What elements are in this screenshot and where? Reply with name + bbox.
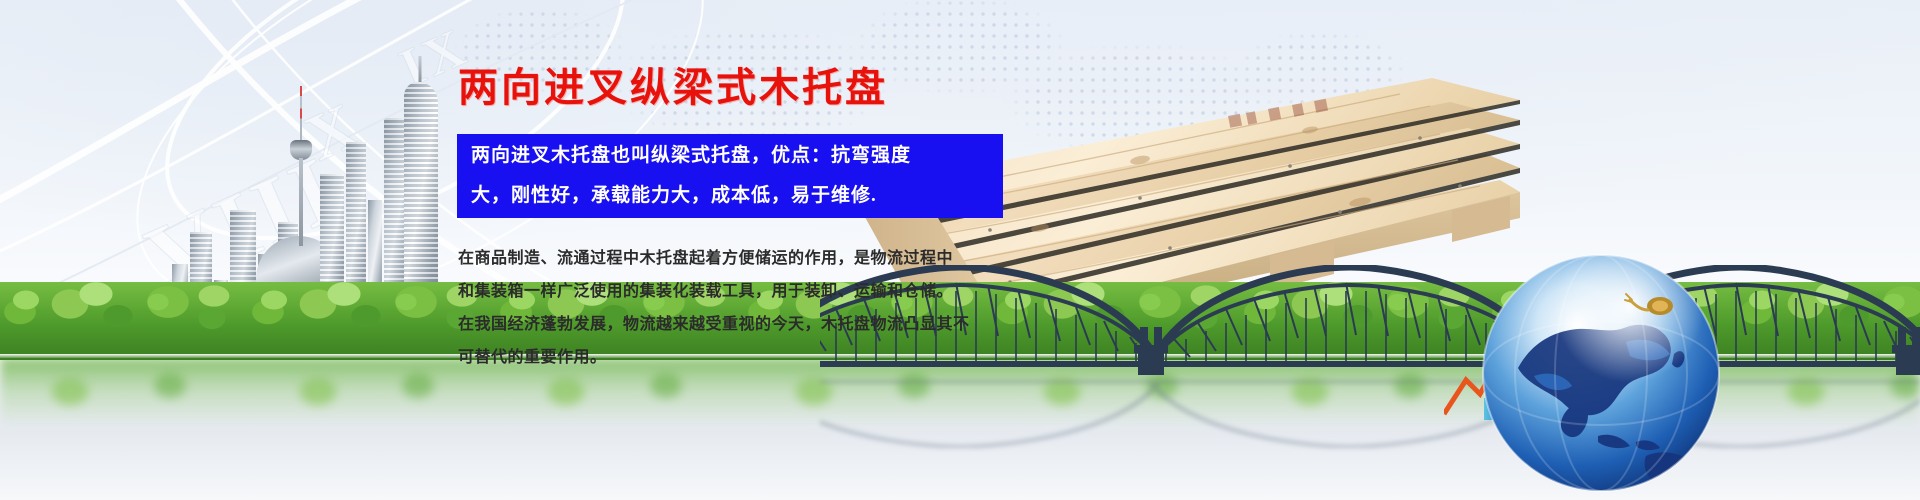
bridge-reflection (820, 374, 1920, 448)
body-line-1: 在商品制造、流通过程中木托盘起着方便储运的作用，是物流过程中 (458, 243, 1018, 274)
tv-tower (288, 86, 314, 246)
page-title: 两向进叉纵梁式木托盘 (458, 55, 888, 113)
body-line-4: 可替代的重要作用。 (458, 342, 1018, 373)
highlight-callout-box: 两向进叉木托盘也叫纵梁式托盘，优点：抗弯强度 大，刚性好，承载能力大，成本低，易… (457, 134, 1003, 218)
body-line-3: 在我国经济蓬勃发展，物流越来越受重视的今天，木托盘物流凸显其不 (458, 309, 1018, 340)
globe-image (1478, 250, 1724, 496)
promo-banner: IX X VIII VII (0, 0, 1920, 500)
body-line-2: 和集装箱一样广泛使用的集装化装载工具，用于装卸、运输和仓储。 (458, 276, 1018, 307)
callout-line-2: 大，刚性好，承载能力大，成本低，易于维修. (471, 176, 989, 216)
callout-line-1: 两向进叉木托盘也叫纵梁式托盘，优点：抗弯强度 (471, 136, 989, 176)
body-copy: 在商品制造、流通过程中木托盘起着方便储运的作用，是物流过程中 和集装箱一样广泛使… (458, 243, 1018, 375)
